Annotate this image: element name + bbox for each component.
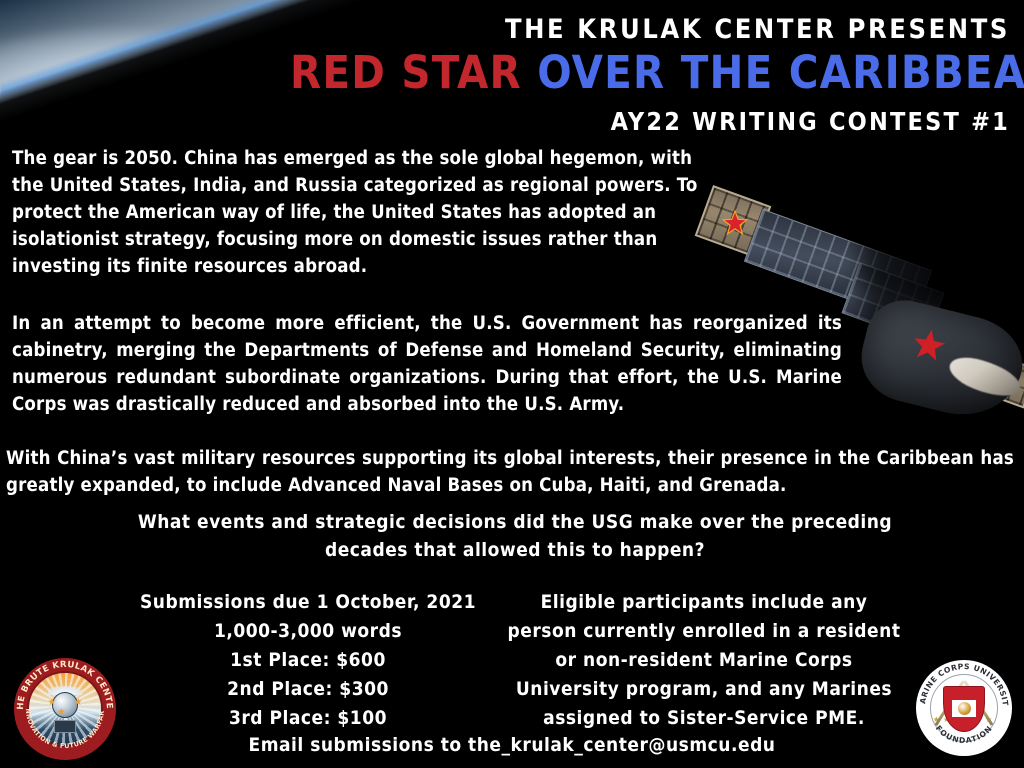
krulak-stars: ★ ★ ★ — [29, 698, 101, 718]
submission-details-column: Submissions due 1 October, 2021 1,000-3,… — [108, 588, 508, 733]
title-blue-segment: OVER THE CARIBBEAN — [537, 46, 1024, 99]
eagle-globe-anchor-icon — [958, 702, 971, 715]
detail-line: Eligible participants include any — [492, 588, 916, 617]
detail-line: Submissions due 1 October, 2021 — [108, 588, 508, 617]
email-submission-line: Email submissions to the_krulak_center@u… — [0, 732, 1024, 758]
poster-canvas: THE KRULAK CENTER PRESENTS RED STAR OVER… — [0, 0, 1024, 768]
detail-line: person currently enrolled in a resident — [492, 617, 916, 646]
scenario-paragraph-1: The gear is 2050. China has emerged as t… — [12, 145, 712, 280]
prompt-question: What events and strategic decisions did … — [120, 508, 910, 564]
header-subkicker: AY22 WRITING CONTEST #1 — [290, 109, 1010, 134]
scenario-paragraph-2: In an attempt to become more efficient, … — [12, 310, 842, 418]
detail-line: or non-resident Marine Corps — [492, 646, 916, 675]
detail-line: University program, and any Marines — [492, 675, 916, 704]
title-red-segment: RED STAR — [290, 46, 537, 99]
detail-line: 3rd Place: $100 — [108, 704, 508, 733]
marine-corps-university-foundation-seal: ★★★ ★★★ MARINE CORPS UNIVERSITY FOUNDATI… — [916, 660, 1012, 756]
red-star-on-solar-panel — [722, 210, 748, 236]
detail-line: 1st Place: $600 — [108, 646, 508, 675]
eligibility-details-column: Eligible participants include any person… — [492, 588, 916, 733]
page-title: RED STAR OVER THE CARIBBEAN — [290, 50, 1010, 96]
krulak-seal-inner: ★ ★ ★ — [27, 671, 103, 747]
brute-krulak-center-seal: ★ ★ ★ THE BRUTE KRULAK CENTER INNOVATION… — [14, 658, 116, 760]
scenario-paragraph-3: With China’s vast military resources sup… — [6, 445, 1014, 499]
headline-block: THE KRULAK CENTER PRESENTS RED STAR OVER… — [290, 16, 1010, 134]
detail-line: 1,000-3,000 words — [108, 617, 508, 646]
book-base-icon — [54, 720, 76, 733]
detail-line: assigned to Sister-Service PME. — [492, 704, 916, 733]
red-star-on-satellite-body — [909, 325, 948, 364]
detail-line: 2nd Place: $300 — [108, 675, 508, 704]
header-kicker: THE KRULAK CENTER PRESENTS — [290, 16, 1010, 43]
